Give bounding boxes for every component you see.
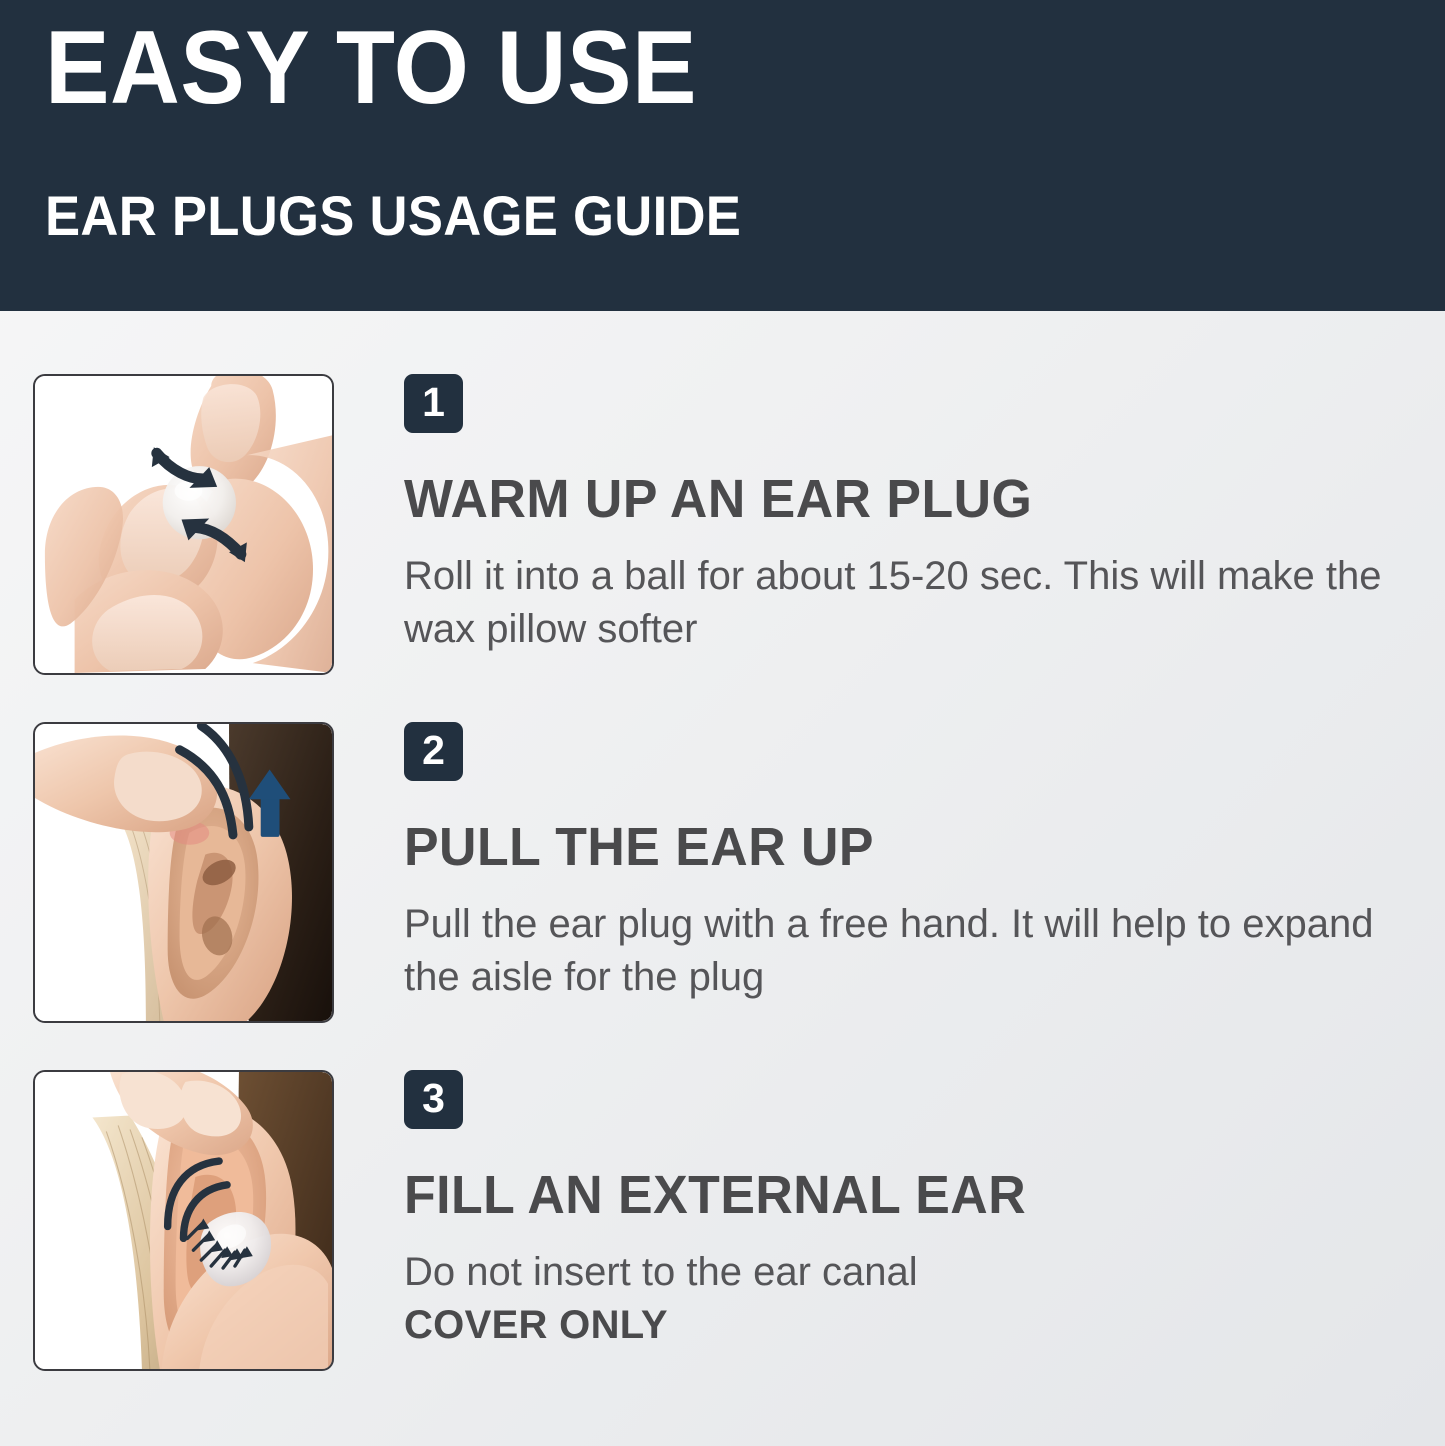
step-1-badge: 1 [404, 374, 463, 433]
infographic-poster: EASY TO USE EAR PLUGS USAGE GUIDE [0, 0, 1445, 1446]
fingers-rolling-wax-plug-illustration [35, 376, 332, 673]
step-item-2: 2 PULL THE EAR UP Pull the ear plug with… [0, 722, 1445, 1033]
step-2-title: PULL THE EAR UP [404, 820, 1354, 874]
step-3-emphasis: COVER ONLY [404, 1299, 1394, 1352]
step-1-description: Roll it into a ball for about 15-20 sec.… [404, 550, 1389, 656]
step-2-thumbnail [33, 722, 334, 1023]
page-subtitle: EAR PLUGS USAGE GUIDE [45, 188, 741, 244]
step-3-thumbnail [33, 1070, 334, 1371]
hand-pulling-ear-up-illustration [35, 724, 332, 1021]
header-banner: EASY TO USE EAR PLUGS USAGE GUIDE [0, 0, 1445, 311]
step-3-description: Do not insert to the ear canal [404, 1246, 1389, 1299]
step-item-1: 1 WARM UP AN EAR PLUG Roll it into a bal… [0, 374, 1445, 681]
step-2-description: Pull the ear plug with a free hand. It w… [404, 898, 1389, 1004]
page-title: EASY TO USE [45, 16, 697, 120]
step-2-badge: 2 [404, 722, 463, 781]
step-1-thumbnail [33, 374, 334, 675]
step-3-badge: 3 [404, 1070, 463, 1129]
steps-list: 1 WARM UP AN EAR PLUG Roll it into a bal… [0, 311, 1445, 1446]
step-1-title: WARM UP AN EAR PLUG [404, 472, 1354, 526]
step-2-text: 2 PULL THE EAR UP Pull the ear plug with… [404, 722, 1394, 1004]
finger-covering-outer-ear-illustration [35, 1072, 332, 1369]
step-1-text: 1 WARM UP AN EAR PLUG Roll it into a bal… [404, 374, 1394, 656]
step-item-3: 3 FILL AN EXTERNAL EAR Do not insert to … [0, 1070, 1445, 1368]
step-3-text: 3 FILL AN EXTERNAL EAR Do not insert to … [404, 1070, 1394, 1352]
step-3-title: FILL AN EXTERNAL EAR [404, 1168, 1354, 1222]
